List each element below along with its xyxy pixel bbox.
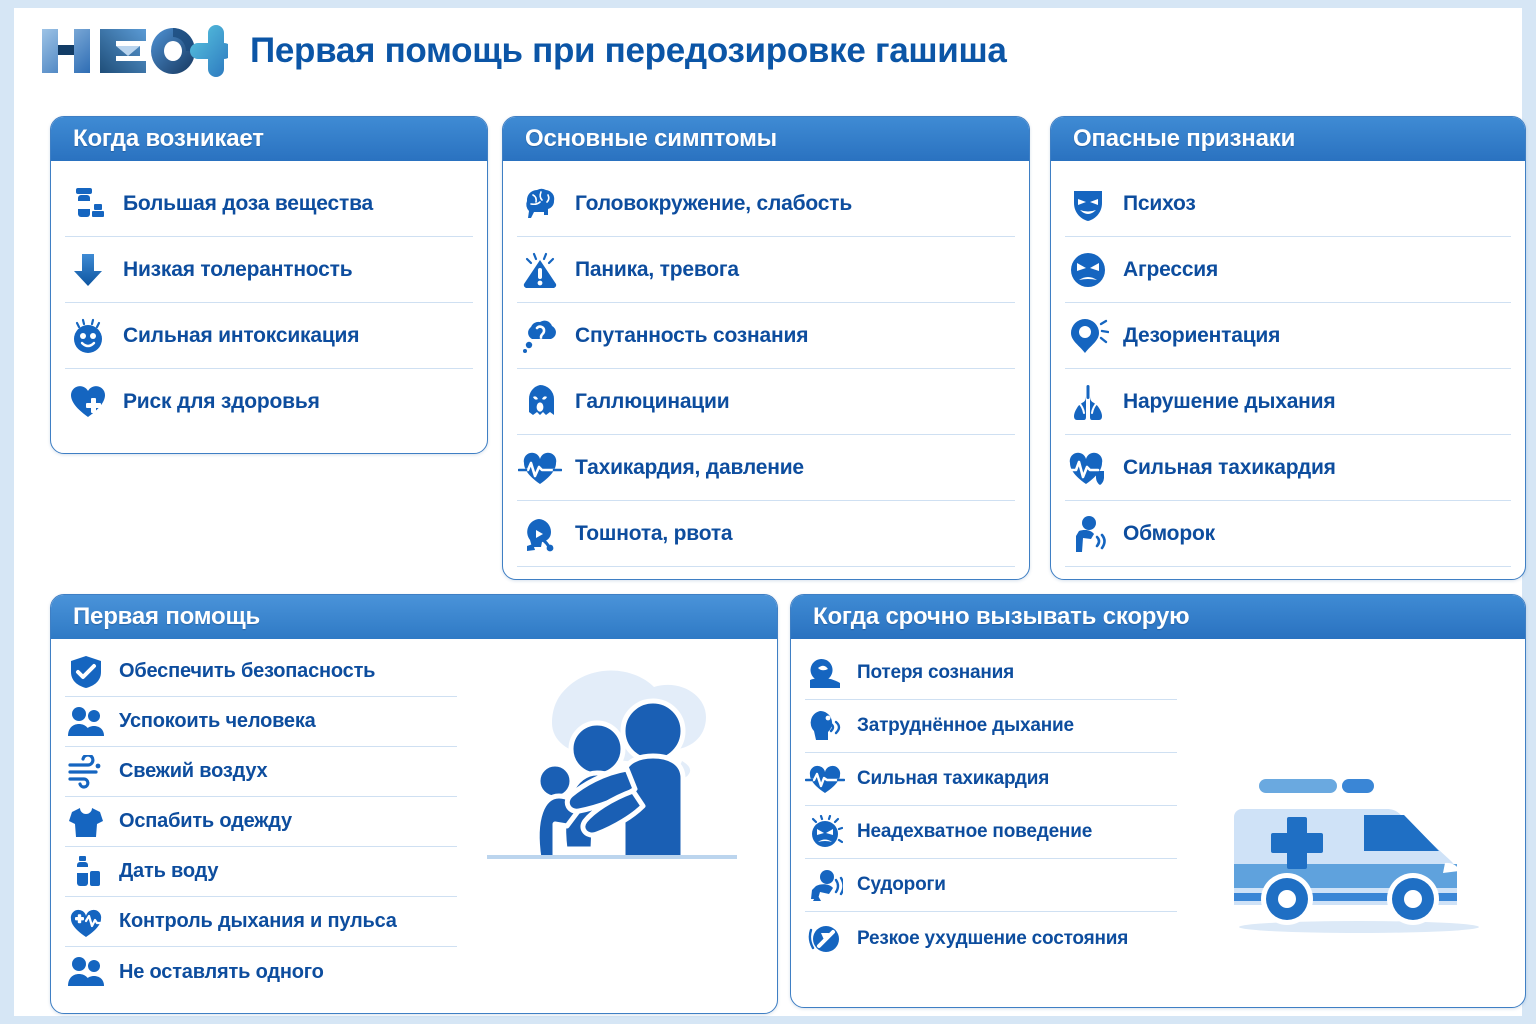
list-item[interactable]: Низкая толерантность <box>65 237 473 303</box>
card-first-aid: Первая помощь Обеспечить безопасность <box>50 594 778 1014</box>
list-item[interactable]: Тахикардия, давление <box>517 435 1015 501</box>
list-item[interactable]: Неадехватное поведение <box>805 806 1177 859</box>
list-item-label: Обморок <box>1123 522 1215 546</box>
list-item[interactable]: Агрессия <box>1065 237 1511 303</box>
down-arrow-icon <box>65 247 111 293</box>
fainting-person-icon <box>1065 511 1111 557</box>
list-item-label: Нарушение дыхания <box>1123 390 1335 414</box>
warning-triangle-icon <box>517 247 563 293</box>
brand-logo <box>38 25 228 77</box>
head-pin-icon <box>1065 313 1111 359</box>
card-danger-signs-header: Опасные признаки <box>1051 117 1525 161</box>
list-item-label: Галлюцинации <box>575 390 729 414</box>
card-first-aid-title: Первая помощь <box>73 603 260 631</box>
list-item[interactable]: Дать воду <box>65 847 457 897</box>
list-item[interactable]: Сильная тахикардия <box>1065 435 1511 501</box>
ghost-icon <box>517 379 563 425</box>
list-item[interactable]: Судороги <box>805 859 1177 912</box>
list-item-label: Обеспечить безопасность <box>119 660 375 683</box>
card-call-ambulance-header: Когда срочно вызывать скорую <box>791 595 1525 639</box>
list-item-label: Паника, тревога <box>575 258 739 282</box>
list-item[interactable]: Свежий воздух <box>65 747 457 797</box>
list-item[interactable]: Тошнота, рвота <box>517 501 1015 567</box>
list-item-label: Контроль дыхания и пульса <box>119 910 397 933</box>
dizzy-face-icon <box>65 313 111 359</box>
list-item-label: Психоз <box>1123 192 1196 216</box>
list-item[interactable]: Паника, тревога <box>517 237 1015 303</box>
list-item-label: Тахикардия, давление <box>575 456 804 480</box>
list-item-label: Неадехватное поведение <box>857 821 1092 843</box>
list-item[interactable]: Сильная интоксикация <box>65 303 473 369</box>
list-item[interactable]: Резкое ухудшение состояния <box>805 912 1177 965</box>
brain-icon <box>517 181 563 227</box>
shield-check-icon <box>65 651 107 693</box>
list-item[interactable]: Оспабить одежду <box>65 797 457 847</box>
evil-mask-icon <box>1065 181 1111 227</box>
list-item-label: Риск для здоровья <box>123 390 320 414</box>
declining-state-icon <box>805 919 845 959</box>
list-item[interactable]: Потеря сознания <box>805 647 1177 700</box>
water-bottle-icon <box>65 851 107 893</box>
list-item[interactable]: Большая доза вещества <box>65 171 473 237</box>
vomiting-head-icon <box>517 511 563 557</box>
breathing-difficulty-icon <box>805 706 845 746</box>
list-item-label: Дать воду <box>119 860 218 883</box>
card-when-occurs-title: Когда возникает <box>73 125 264 153</box>
list-item[interactable]: Риск для здоровья <box>65 369 473 435</box>
angry-face-icon <box>805 812 845 852</box>
list-item[interactable]: Успокоить человека <box>65 697 457 747</box>
card-when-occurs-header: Когда возникает <box>51 117 487 161</box>
card-danger-signs: Опасные признаки Психоз <box>1050 116 1526 580</box>
list-item[interactable]: Обморок <box>1065 501 1511 567</box>
list-item[interactable]: Обеспечить безопасность <box>65 647 457 697</box>
card-main-symptoms-header: Основные симптомы <box>503 117 1029 161</box>
page-title: Первая помощь при передозировке гашиша <box>250 31 1007 71</box>
heart-pulse-icon <box>517 445 563 491</box>
tshirt-icon <box>65 801 107 843</box>
list-item[interactable]: Головокружение, слабость <box>517 171 1015 237</box>
poster-header: Первая помощь при передозировке гашиша <box>38 18 1007 84</box>
card-first-aid-header: Первая помощь <box>51 595 777 639</box>
list-item-label: Потеря сознания <box>857 662 1014 684</box>
list-item[interactable]: Спутанность сознания <box>517 303 1015 369</box>
list-item[interactable]: Сильная тахикардия <box>805 753 1177 806</box>
list-item[interactable]: Не оставлять одного <box>65 947 457 997</box>
list-item[interactable]: Нарушение дыхания <box>1065 369 1511 435</box>
list-item-label: Дезориентация <box>1123 324 1280 348</box>
card-main-symptoms: Основные симптомы Головокружение, слабос… <box>502 116 1030 580</box>
list-item-label: Агрессия <box>1123 258 1218 282</box>
lungs-icon <box>1065 379 1111 425</box>
list-item-label: Затруднённое дыхание <box>857 715 1074 737</box>
list-item-label: Сильная тахикардия <box>1123 456 1336 480</box>
list-item-label: Низкая толерантность <box>123 258 352 282</box>
list-item-label: Судороги <box>857 874 946 896</box>
list-item[interactable]: Затруднённое дыхание <box>805 700 1177 753</box>
list-item-label: Тошнота, рвота <box>575 522 732 546</box>
wind-icon <box>65 751 107 793</box>
poster-frame: Первая помощь при передозировке гашиша К… <box>14 8 1522 1016</box>
list-item-label: Резкое ухудшение состояния <box>857 928 1128 950</box>
two-people-comforting-illustration <box>467 653 767 883</box>
list-item-label: Головокружение, слабость <box>575 192 852 216</box>
heart-cross-pulse-icon <box>65 901 107 943</box>
list-item[interactable]: Контроль дыхания и пульса <box>65 897 457 947</box>
seizure-person-icon <box>805 865 845 905</box>
card-main-symptoms-title: Основные симптомы <box>525 125 777 153</box>
list-item-label: Не оставлять одного <box>119 961 324 984</box>
list-item-label: Спутанность сознания <box>575 324 808 348</box>
list-item[interactable]: Психоз <box>1065 171 1511 237</box>
ambulance-illustration <box>1209 759 1509 939</box>
two-people-icon <box>65 951 107 993</box>
heart-pulse-icon <box>1065 445 1111 491</box>
list-item-label: Сильная интоксикация <box>123 324 359 348</box>
list-item-label: Сильная тахикардия <box>857 768 1049 790</box>
card-call-ambulance-title: Когда срочно вызывать скорую <box>813 603 1189 631</box>
heart-pulse-icon <box>805 759 845 799</box>
heart-cross-icon <box>65 379 111 425</box>
list-item-label: Свежий воздух <box>119 760 267 783</box>
thought-question-icon <box>517 313 563 359</box>
list-item-label: Успокоить человека <box>119 710 316 733</box>
card-when-occurs: Когда возникает Большая доза вещества <box>50 116 488 454</box>
list-item[interactable]: Дезориентация <box>1065 303 1511 369</box>
unconscious-person-icon <box>805 653 845 693</box>
list-item-label: Оспабить одежду <box>119 810 292 833</box>
two-people-icon <box>65 701 107 743</box>
list-item[interactable]: Галлюцинации <box>517 369 1015 435</box>
pill-bottle-icon <box>65 181 111 227</box>
angry-face-icon <box>1065 247 1111 293</box>
card-call-ambulance: Когда срочно вызывать скорую Потеря созн… <box>790 594 1526 1008</box>
card-danger-signs-title: Опасные признаки <box>1073 125 1295 153</box>
list-item-label: Большая доза вещества <box>123 192 373 216</box>
